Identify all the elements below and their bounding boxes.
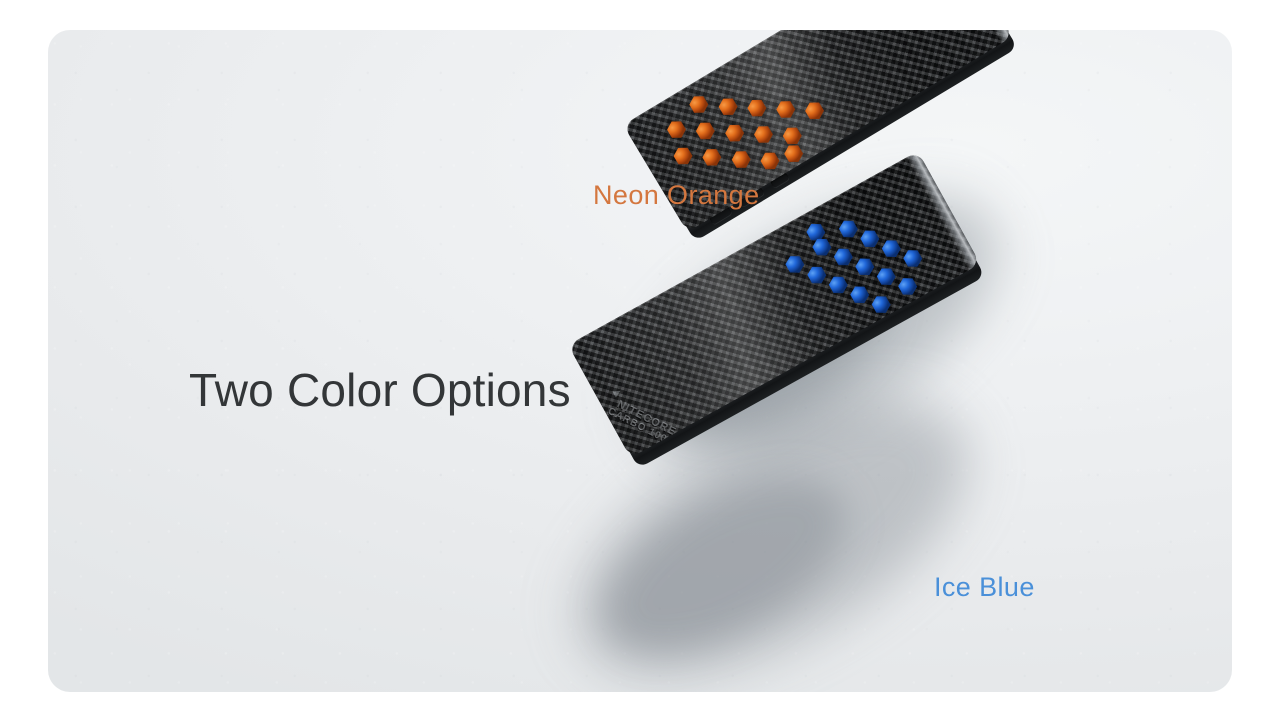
- product-blue-unit[interactable]: NITECORE CARBO 10000 ►: [568, 345, 1028, 685]
- product-showcase-scene: NITECORE CARBO 10000 ►: [0, 0, 1280, 720]
- backdrop-panel: NITECORE CARBO 10000 ►: [48, 30, 1232, 692]
- caption-ice-blue: Ice Blue: [934, 572, 1035, 603]
- page-title: Two Color Options: [189, 363, 571, 417]
- caption-neon-orange: Neon Orange: [593, 180, 760, 211]
- polarity-arrow-icon: ►: [608, 383, 625, 401]
